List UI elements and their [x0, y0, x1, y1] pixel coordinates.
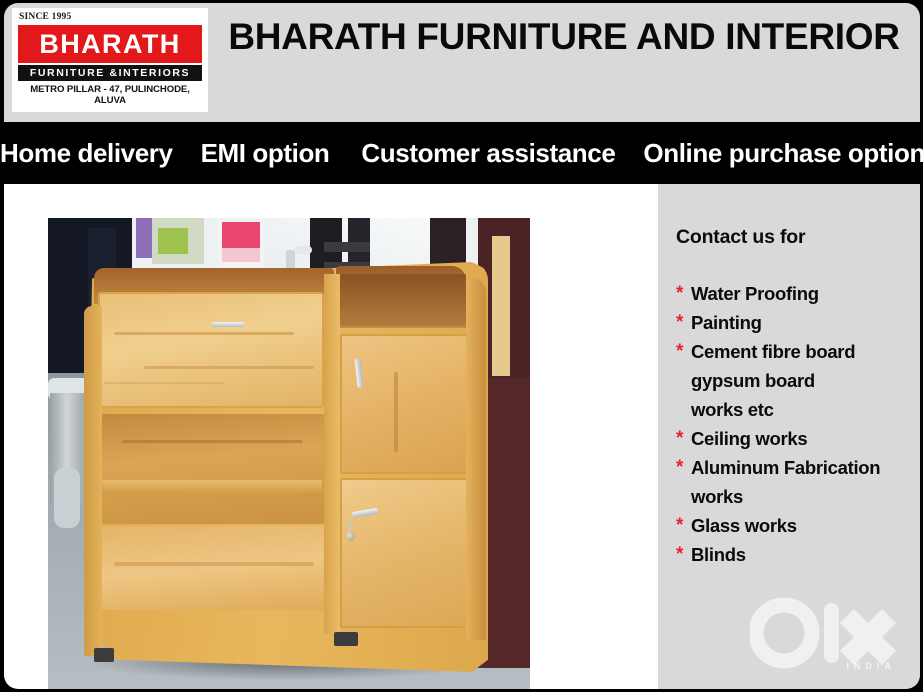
- service-label: Ceiling works: [691, 424, 920, 453]
- service-item-continuation: gypsum board: [676, 366, 920, 395]
- page-title: BHARATH FURNITURE AND INTERIOR: [214, 11, 914, 62]
- listing-image: SINCE 1995 BHARATH FURNITURE &INTERIORS …: [0, 0, 923, 692]
- service-item: * Ceiling works: [676, 424, 920, 453]
- bullet-star-icon: *: [676, 424, 691, 453]
- product-photo: [48, 218, 530, 689]
- service-label: Painting: [691, 308, 920, 337]
- service-label: Cement fibre board: [691, 337, 920, 366]
- furniture-unit: [84, 262, 488, 672]
- service-label: Glass works: [691, 511, 920, 540]
- content-area: Contact us for * Water Proofing * Painti…: [4, 184, 920, 689]
- bullet-star-icon: *: [676, 279, 691, 308]
- nav-item-customer-assistance[interactable]: Customer assistance: [361, 138, 615, 169]
- logo-address-text: METRO PILLAR - 47, PULINCHODE, ALUVA: [18, 84, 202, 106]
- service-item-continuation: works etc: [676, 395, 920, 424]
- bullet-star-icon: *: [676, 511, 691, 540]
- lock-icon: [346, 532, 355, 541]
- olx-watermark-region: INDIA: [847, 661, 897, 671]
- sidebar-heading: Contact us for: [676, 226, 920, 249]
- header-banner: SINCE 1995 BHARATH FURNITURE &INTERIORS …: [4, 3, 920, 122]
- service-label: works etc: [691, 395, 920, 424]
- service-item: * Painting: [676, 308, 920, 337]
- service-item: * Blinds: [676, 540, 920, 569]
- bullet-star-icon: *: [676, 540, 691, 569]
- service-label: Water Proofing: [691, 279, 920, 308]
- nav-item-online-purchase-option[interactable]: Online purchase option: [643, 138, 923, 169]
- service-item: * Aluminum Fabrication: [676, 453, 920, 482]
- nav-item-home-delivery[interactable]: Home delivery: [0, 138, 173, 169]
- services-sidebar: Contact us for * Water Proofing * Painti…: [658, 184, 920, 689]
- service-label: Aluminum Fabrication: [691, 453, 920, 482]
- logo-tagline-text: FURNITURE &INTERIORS: [30, 67, 190, 79]
- service-item: * Cement fibre board: [676, 337, 920, 366]
- logo-since-text: SINCE 1995: [19, 12, 202, 23]
- nav-item-emi-option[interactable]: EMI option: [201, 138, 330, 169]
- drawer-handle-icon: [212, 322, 244, 327]
- company-logo: SINCE 1995 BHARATH FURNITURE &INTERIORS …: [12, 8, 208, 112]
- logo-tagline-bar: FURNITURE &INTERIORS: [18, 65, 202, 81]
- service-label: gypsum board: [691, 366, 920, 395]
- bullet-star-icon: *: [676, 453, 691, 482]
- feature-navbar: Home delivery EMI option Customer assist…: [0, 122, 923, 184]
- bullet-star-icon: *: [676, 337, 691, 366]
- service-item-continuation: works: [676, 482, 920, 511]
- service-item: * Glass works: [676, 511, 920, 540]
- service-label: works: [691, 482, 920, 511]
- service-item: * Water Proofing: [676, 279, 920, 308]
- service-label: Blinds: [691, 540, 920, 569]
- logo-brand-text: BHARATH: [39, 29, 180, 60]
- logo-brand-bar: BHARATH: [18, 25, 202, 63]
- bullet-star-icon: *: [676, 308, 691, 337]
